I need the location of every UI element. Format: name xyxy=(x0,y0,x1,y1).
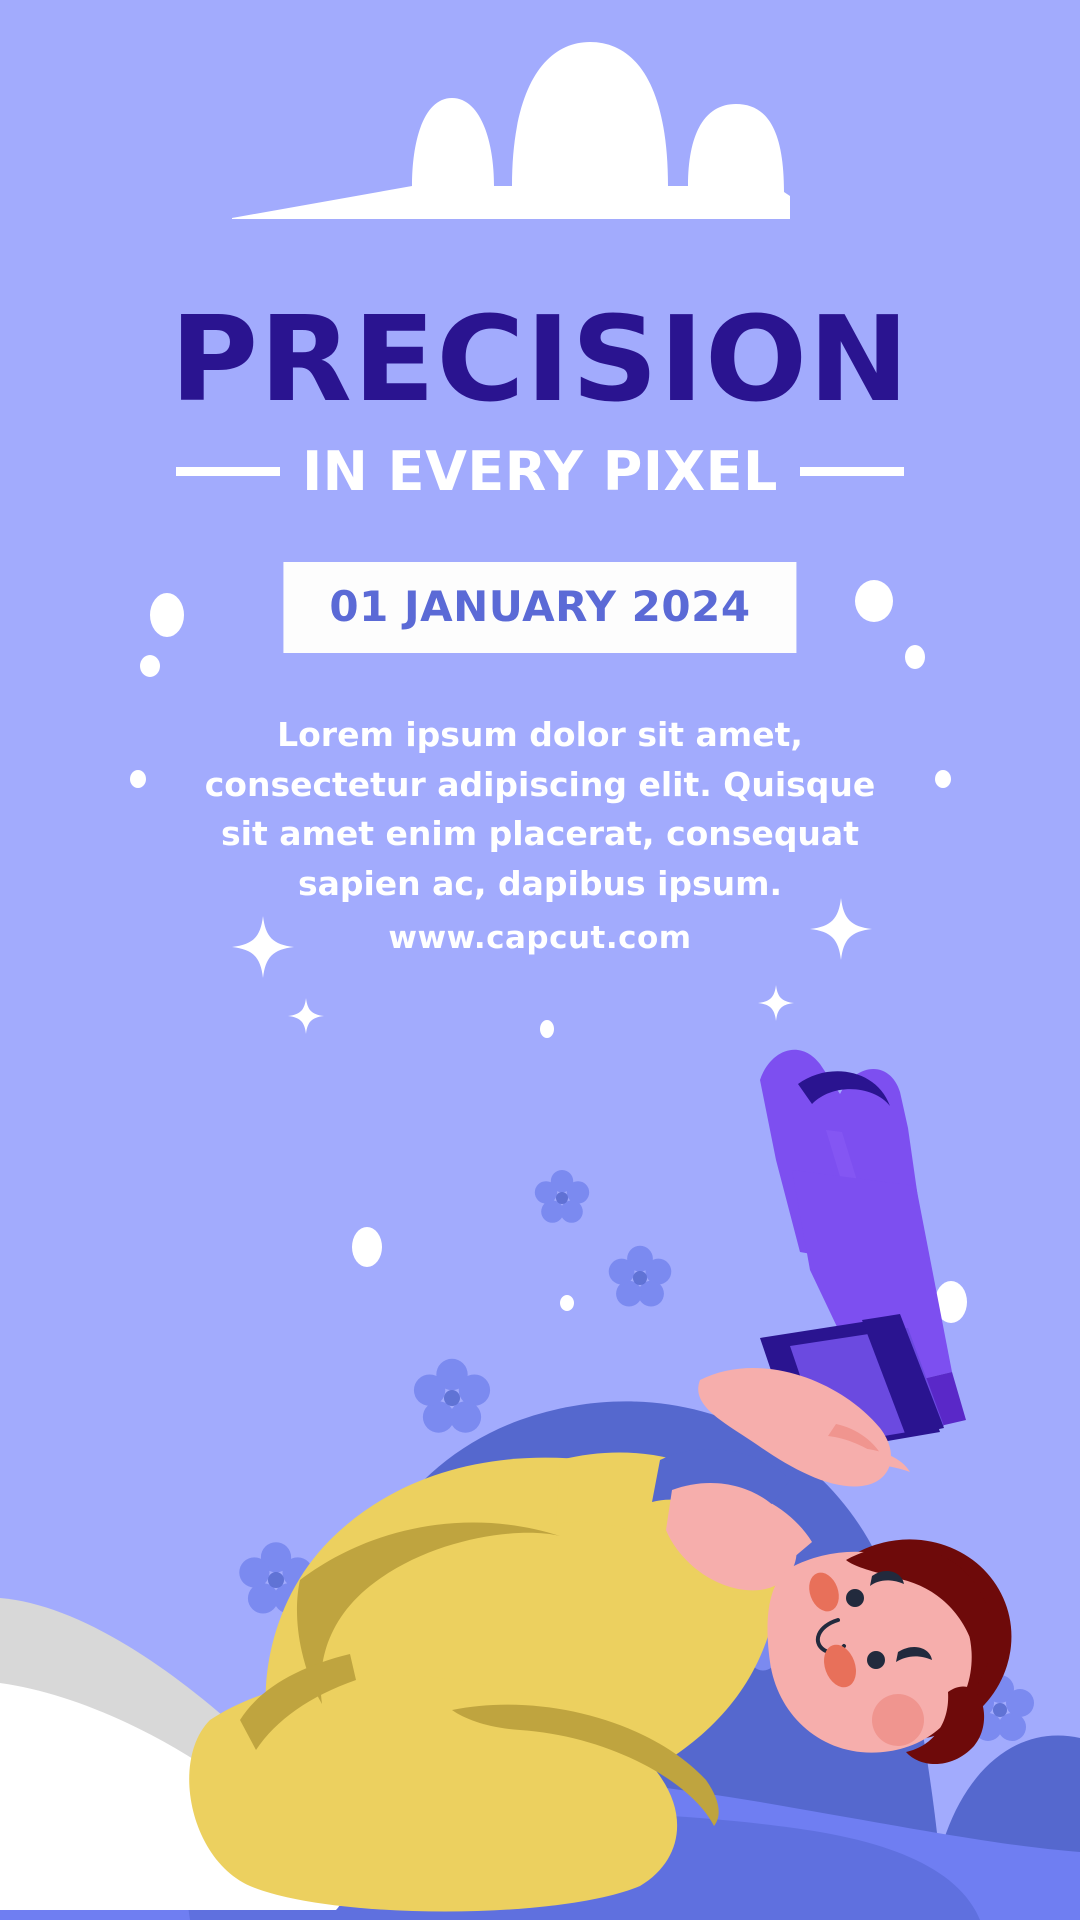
decorative-dot xyxy=(140,655,160,677)
decorative-dot xyxy=(905,645,925,669)
eye-right xyxy=(867,1651,885,1669)
ear xyxy=(872,1694,924,1746)
sparkle-icon xyxy=(810,898,872,960)
date-text: 01 JANUARY 2024 xyxy=(329,582,750,631)
decorative-dot xyxy=(130,770,146,788)
page-title: PRECISION xyxy=(0,300,1080,418)
decorative-dot xyxy=(935,770,951,788)
headline-block: PRECISION IN EVERY PIXEL xyxy=(0,300,1080,503)
eye-left xyxy=(846,1589,864,1607)
date-badge: 01 JANUARY 2024 xyxy=(283,562,796,653)
decorative-dot xyxy=(150,593,184,637)
rule-right xyxy=(800,467,904,476)
subtitle-row: IN EVERY PIXEL xyxy=(0,440,1080,503)
rule-left xyxy=(176,467,280,476)
illustration-person-reading xyxy=(0,1020,1080,1920)
body-paragraph: Lorem ipsum dolor sit amet, consectetur … xyxy=(180,710,900,908)
decorative-dot xyxy=(855,580,893,622)
sparkle-icon xyxy=(232,916,294,978)
sparkle-icon xyxy=(758,985,794,1021)
poster-canvas: PRECISION IN EVERY PIXEL 01 JANUARY 2024… xyxy=(0,0,1080,1920)
website-url[interactable]: www.capcut.com xyxy=(190,920,890,956)
cloud-icon xyxy=(0,0,1080,260)
page-subtitle: IN EVERY PIXEL xyxy=(302,440,778,503)
